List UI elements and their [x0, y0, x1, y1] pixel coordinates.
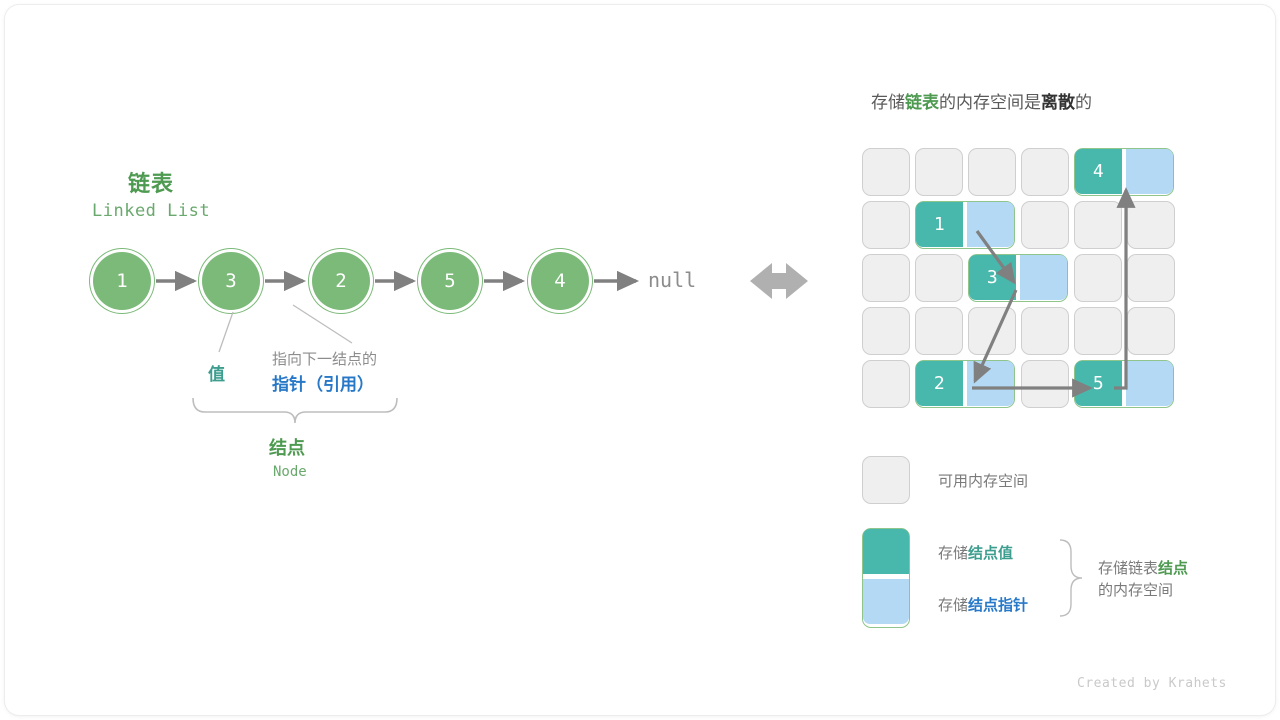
node-annotation-en: Node	[273, 464, 307, 480]
memory-node-4-pointer	[1126, 149, 1173, 194]
node-annotation-cn: 结点	[269, 434, 305, 460]
credit-label: Created by Krahets	[1077, 676, 1227, 691]
value-annotation-label: 值	[208, 360, 225, 385]
memory-cell-free	[915, 254, 963, 302]
legend-group-label-line1: 存储链表结点	[1098, 557, 1188, 578]
memory-node-5-value: 5	[1075, 361, 1122, 406]
memory-cell-free	[1021, 201, 1069, 249]
memory-cell-free	[1021, 360, 1069, 408]
legend-value-swatch	[863, 529, 909, 574]
memory-node-cell-4: 4	[1074, 148, 1174, 196]
list-node-2: 2	[312, 252, 370, 310]
pointer-annotation-line1: 指向下一结点的	[272, 348, 377, 369]
memory-node-cell-2: 2	[915, 360, 1015, 408]
legend-group-highlight: 结点	[1158, 560, 1188, 577]
list-node-3-value: 5	[444, 270, 455, 292]
list-node-2-value: 2	[335, 270, 346, 292]
list-node-1: 3	[202, 252, 260, 310]
legend-free-label: 可用内存空间	[938, 470, 1028, 491]
memory-node-3-value: 3	[969, 255, 1016, 300]
memory-node-2-pointer	[967, 361, 1014, 406]
legend-pointer-swatch	[863, 579, 909, 624]
memory-cell-free	[915, 307, 963, 355]
list-node-4-value: 4	[554, 270, 565, 292]
memory-node-cell-3: 3	[968, 254, 1068, 302]
memory-node-1-value: 1	[916, 202, 963, 247]
memory-node-cell-1: 1	[915, 201, 1015, 249]
memory-node-2-value: 2	[916, 361, 963, 406]
memory-title-part3: 的	[1075, 93, 1092, 112]
legend-pointer-label: 存储结点指针	[938, 594, 1028, 615]
memory-title-highlight-discrete: 离散	[1041, 93, 1075, 112]
memory-cell-free	[1074, 201, 1122, 249]
legend-pointer-highlight: 结点指针	[968, 597, 1028, 614]
legend-group-label-line2: 的内存空间	[1098, 579, 1173, 600]
memory-title-highlight-linkedlist: 链表	[905, 93, 939, 112]
memory-node-5-pointer	[1126, 361, 1173, 406]
legend-value-prefix: 存储	[938, 545, 968, 562]
memory-title: 存储链表的内存空间是离散的	[871, 88, 1092, 113]
list-node-1-value: 3	[225, 270, 236, 292]
memory-cell-free	[862, 201, 910, 249]
legend-group-prefix: 存储链表	[1098, 560, 1158, 577]
memory-title-part2: 的内存空间是	[939, 93, 1041, 112]
memory-cell-free	[1127, 307, 1175, 355]
list-node-4: 4	[531, 252, 589, 310]
memory-node-4-value: 4	[1075, 149, 1122, 194]
list-node-0: 1	[93, 252, 151, 310]
legend-pointer-prefix: 存储	[938, 597, 968, 614]
memory-cell-free	[862, 148, 910, 196]
linked-list-title-cn: 链表	[128, 166, 174, 198]
legend-node-swatch	[862, 528, 910, 628]
diagram-root: 1 3 2 5 4 链表 Linked List null 值 指向下一结点的 …	[0, 0, 1280, 720]
memory-node-1-pointer	[967, 202, 1014, 247]
legend-free-swatch	[862, 456, 910, 504]
linked-list-title-en: Linked List	[92, 201, 210, 221]
list-node-3: 5	[421, 252, 479, 310]
memory-cell-free	[1074, 307, 1122, 355]
memory-cell-free	[862, 254, 910, 302]
memory-cell-free	[1074, 254, 1122, 302]
memory-cell-free	[1127, 201, 1175, 249]
memory-cell-free	[862, 360, 910, 408]
memory-node-cell-5: 5	[1074, 360, 1174, 408]
memory-cell-free	[1127, 254, 1175, 302]
memory-cell-free	[1021, 148, 1069, 196]
memory-title-part1: 存储	[871, 93, 905, 112]
memory-cell-free	[1021, 307, 1069, 355]
pointer-annotation-line2: 指针（引用）	[272, 370, 374, 395]
memory-grid: 4 1 3 2	[862, 148, 1176, 414]
list-node-0-value: 1	[116, 270, 127, 292]
memory-cell-free	[968, 307, 1016, 355]
legend-value-label: 存储结点值	[938, 542, 1013, 563]
legend-value-highlight: 结点值	[968, 545, 1013, 562]
memory-cell-free	[968, 148, 1016, 196]
memory-cell-free	[862, 307, 910, 355]
null-label: null	[648, 268, 696, 292]
memory-cell-free	[915, 148, 963, 196]
memory-node-3-pointer	[1020, 255, 1067, 300]
